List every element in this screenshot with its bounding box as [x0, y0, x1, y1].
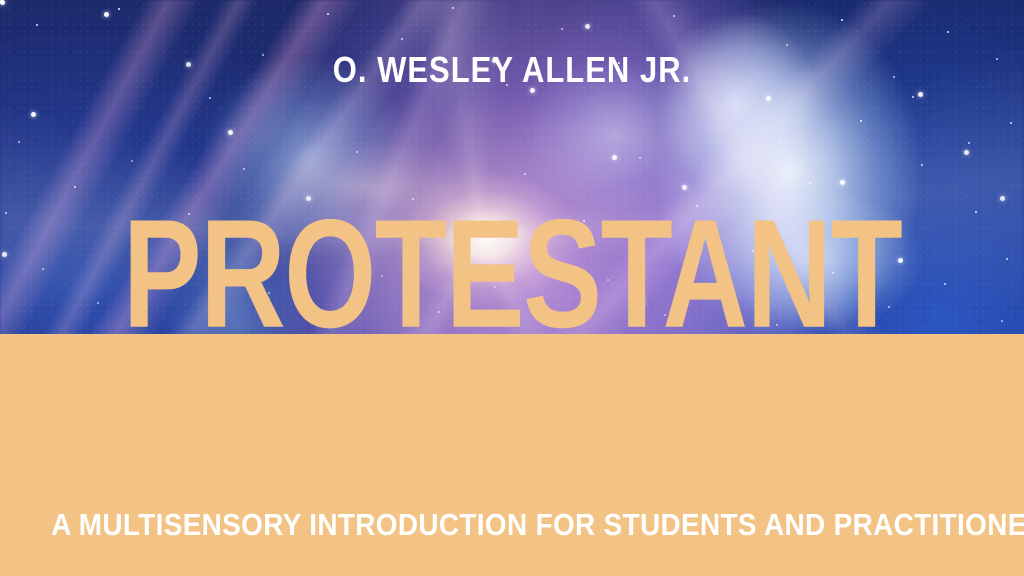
title-line-1-clip: PROTESTANT — [0, 0, 1024, 334]
subtitle: A MULTISENSORY INTRODUCTION FOR STUDENTS… — [51, 509, 973, 540]
title-line-2-upper-clip: WORSHIP — [0, 300, 1024, 334]
book-cover: O. WESLEY ALLEN JR. PROTESTANT WORSHIP W… — [0, 0, 1024, 576]
title-line-2-lower-clip: WORSHIP — [0, 334, 1024, 514]
